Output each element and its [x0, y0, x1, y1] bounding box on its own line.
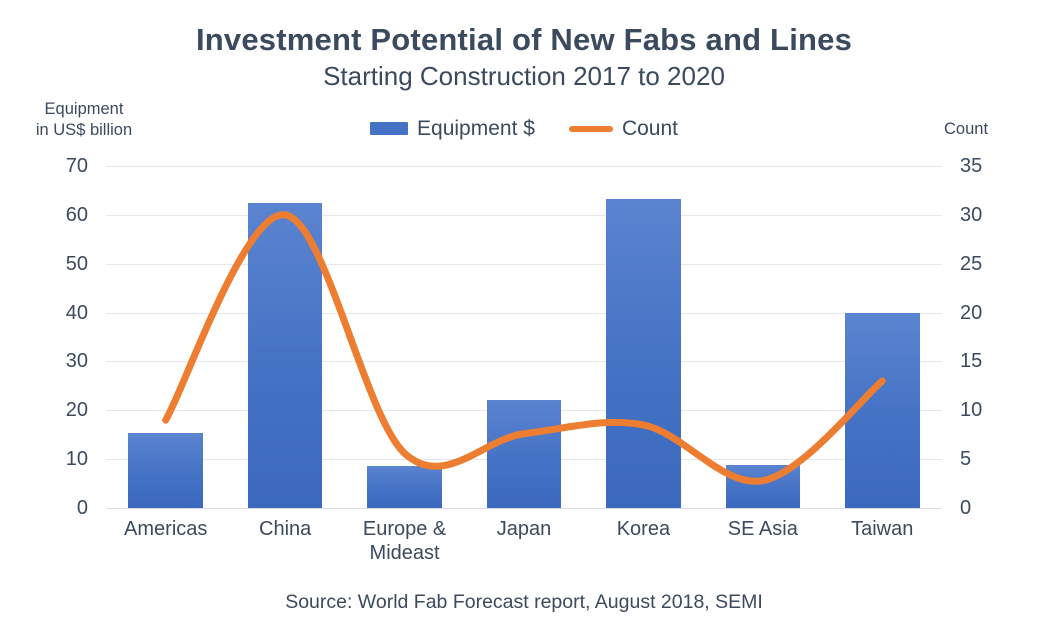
x-axis-label-line: Taiwan — [823, 517, 942, 541]
y-axis-left-tick-label: 40 — [28, 303, 88, 323]
y-axis-right-tick-label: 35 — [960, 156, 1020, 176]
y-axis-left-tick-label: 20 — [28, 400, 88, 420]
x-axis-label-europe-mideast: Europe &Mideast — [345, 517, 464, 566]
y-axis-right-tick-label: 15 — [960, 351, 1020, 371]
y-axis-left-tick-label: 10 — [28, 449, 88, 469]
count-line-path — [166, 215, 883, 482]
x-axis-label-line: Korea — [584, 517, 703, 541]
x-axis-label-line: China — [225, 517, 344, 541]
y-axis-left-tick-label: 30 — [28, 351, 88, 371]
y-axis-right-tick-label: 30 — [960, 205, 1020, 225]
chart-container: Investment Potential of New Fabs and Lin… — [0, 0, 1048, 630]
x-axis-label-line: Americas — [106, 517, 225, 541]
x-axis-label-korea: Korea — [584, 517, 703, 566]
chart-title: Investment Potential of New Fabs and Lin… — [0, 22, 1048, 59]
gridline — [106, 508, 942, 509]
chart-subtitle: Starting Construction 2017 to 2020 — [0, 61, 1048, 93]
x-axis-label-line: SE Asia — [703, 517, 822, 541]
y-axis-right-tick-label: 0 — [960, 498, 1020, 518]
x-axis-labels: AmericasChinaEurope &MideastJapanKoreaSE… — [106, 517, 942, 566]
y-axis-left-tick-label: 70 — [28, 156, 88, 176]
legend-line-swatch-icon — [569, 126, 613, 132]
line-series-count — [106, 166, 942, 508]
x-axis-label-americas: Americas — [106, 517, 225, 566]
x-axis-label-line: Europe & — [345, 517, 464, 541]
chart-title-block: Investment Potential of New Fabs and Lin… — [0, 22, 1048, 92]
legend-label-equipment: Equipment $ — [417, 118, 535, 139]
x-axis-label-line: Mideast — [345, 541, 464, 565]
source-note: Source: World Fab Forecast report, Augus… — [0, 591, 1048, 614]
x-axis-label-line: Japan — [464, 517, 583, 541]
legend-bar-swatch-icon — [370, 122, 408, 135]
chart-legend: Equipment $ Count — [0, 118, 1048, 139]
x-axis-label-china: China — [225, 517, 344, 566]
y-axis-left-tick-label: 50 — [28, 254, 88, 274]
x-axis-label-se-asia: SE Asia — [703, 517, 822, 566]
y-axis-right-tick-label: 10 — [960, 400, 1020, 420]
legend-item-count[interactable]: Count — [569, 118, 678, 139]
x-axis-label-japan: Japan — [464, 517, 583, 566]
y-axis-right-tick-label: 25 — [960, 254, 1020, 274]
legend-label-count: Count — [622, 118, 678, 139]
y-axis-left-tick-label: 60 — [28, 205, 88, 225]
y-axis-right-tick-label: 5 — [960, 449, 1020, 469]
y-axis-left-tick-label: 0 — [28, 498, 88, 518]
y-axis-right-tick-label: 20 — [960, 303, 1020, 323]
legend-item-equipment[interactable]: Equipment $ — [370, 118, 535, 139]
x-axis-label-taiwan: Taiwan — [823, 517, 942, 566]
plot-area: 010203040506070 05101520253035 — [106, 166, 942, 508]
y-axis-left-title-line1: Equipment — [14, 99, 154, 120]
